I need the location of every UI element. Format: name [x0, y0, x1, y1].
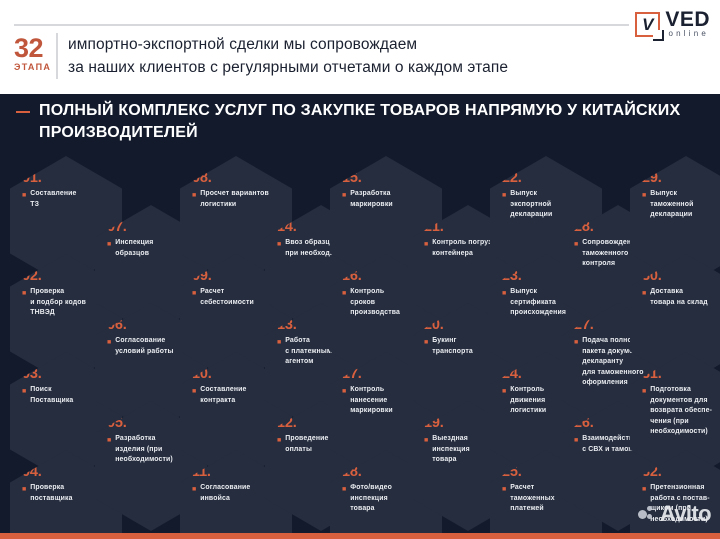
hexagon-step-label: Контроль погрузки контейнера: [432, 238, 500, 259]
hexagon-step-label: Проверка и подбор кодов ТНВЭД: [30, 287, 86, 319]
hexagon-step-label: Составление контракта: [200, 385, 246, 406]
hexagon-step-label: Выездная инспекция товара: [432, 434, 470, 466]
hexagon-step-label: Доставка товара на склад: [650, 287, 708, 308]
hexagon-step-label: Согласование инвойса: [200, 483, 250, 504]
hexagon-step-body: ■Составление ТЗ: [22, 189, 114, 210]
bullet-icon: ■: [574, 434, 578, 446]
hexagon-step-label: Контроль нанесение маркировки: [350, 385, 393, 417]
hexagon-step-number: 29.: [642, 170, 720, 186]
stage-count-word: ЭТАПА: [14, 61, 58, 73]
hexagon-step-number: 15.: [342, 170, 434, 186]
bullet-icon: ■: [22, 483, 26, 495]
avito-dots-icon: [638, 506, 657, 523]
logo-name: VED: [665, 10, 710, 29]
bullet-icon: ■: [424, 434, 428, 446]
hexagon-step-label: Выпуск таможенной декларации: [650, 189, 693, 221]
bullet-icon: ■: [424, 336, 428, 348]
hexagon-step-body: ■Доставка товара на склад: [642, 287, 720, 308]
bullet-icon: ■: [642, 483, 646, 495]
header-divider-rule: [14, 24, 629, 26]
bullet-icon: ■: [342, 189, 346, 201]
bullet-icon: ■: [642, 189, 646, 201]
stage-count-number: 32: [14, 36, 58, 61]
hexagon-step-label: Составление ТЗ: [30, 189, 76, 210]
header-line-2: за наших клиентов с регулярными отчетами…: [68, 56, 623, 79]
bullet-icon: ■: [642, 385, 646, 397]
logo-tagline: online: [665, 29, 710, 39]
hexagon-step-label: Инспекция образцов: [115, 238, 153, 259]
dark-panel: ПОЛНЫЙ КОМПЛЕКС УСЛУГ ПО ЗАКУПКЕ ТОВАРОВ…: [0, 94, 720, 539]
avito-watermark: Avito: [638, 503, 711, 525]
hexagon-step-body: ■Просчет вариантов логистики: [192, 189, 284, 210]
bullet-icon: ■: [424, 238, 428, 250]
bullet-icon: ■: [107, 434, 111, 446]
bullet-icon: ■: [192, 385, 196, 397]
hexagon-step-label: Поиск Поставщика: [30, 385, 73, 406]
hexagon-step-body: ■Разработка маркировки: [342, 189, 434, 210]
logo-corner-bracket-icon: [653, 30, 664, 41]
hexagon-step-label: Проведение оплаты: [285, 434, 328, 455]
bullet-icon: ■: [642, 287, 646, 299]
hexagon-step-label: Расчет себестоимости: [200, 287, 254, 308]
hexagon-step-label: Просчет вариантов логистики: [200, 189, 269, 210]
bullet-icon: ■: [502, 287, 506, 299]
bullet-icon: ■: [342, 483, 346, 495]
hexagon-step-label: Выпуск сертификата происхождения: [510, 287, 566, 319]
hexagon-step-label: Подготовка документов для возврата обесп…: [650, 385, 712, 438]
bullet-icon: ■: [107, 238, 111, 250]
badge-vertical-divider: [56, 33, 58, 79]
bullet-icon: ■: [277, 434, 281, 446]
bullet-icon: ■: [502, 385, 506, 397]
hexagon-grid: 01.■Составление ТЗ02.■Проверка и подбор …: [0, 156, 720, 539]
hexagon-step-label: Работа с платежным агентом: [285, 336, 332, 368]
hexagon-step-label: Разработка маркировки: [350, 189, 393, 210]
title-dash-icon: [16, 111, 30, 113]
bullet-icon: ■: [22, 189, 26, 201]
bullet-icon: ■: [22, 385, 26, 397]
bullet-icon: ■: [342, 287, 346, 299]
hexagon-step-body: ■Подготовка документов для возврата обес…: [642, 385, 720, 438]
ved-online-logo: V VED online: [635, 10, 710, 39]
header: 32 ЭТАПА импортно-экспортной сделки мы с…: [0, 0, 720, 94]
hexagon-step-number: 08.: [192, 170, 284, 186]
bullet-icon: ■: [342, 385, 346, 397]
hexagon-step-label: Букинг транспорта: [432, 336, 473, 357]
header-text-block: импортно-экспортной сделки мы сопровожда…: [68, 33, 623, 79]
logo-mark-icon: V: [635, 12, 660, 37]
bullet-icon: ■: [22, 287, 26, 299]
hexagon-step-number: 01.: [22, 170, 114, 186]
hexagon-step-body: ■Выпуск таможенной декларации: [642, 189, 720, 221]
hexagon-step-label: Выпуск экспортной декларации: [510, 189, 552, 221]
infographic-poster: 32 ЭТАПА импортно-экспортной сделки мы с…: [0, 0, 720, 539]
hexagon-step-number: 22.: [502, 170, 594, 186]
bottom-accent-stripe: [0, 533, 720, 539]
bullet-icon: ■: [502, 189, 506, 201]
bullet-icon: ■: [574, 238, 578, 250]
bullet-icon: ■: [192, 483, 196, 495]
header-line-1: импортно-экспортной сделки мы сопровожда…: [68, 33, 623, 56]
bullet-icon: ■: [192, 287, 196, 299]
hexagon-step-label: Согласование условий работы: [115, 336, 173, 357]
bullet-icon: ■: [107, 336, 111, 348]
hexagon-step-label: Контроль движения логистики: [510, 385, 546, 417]
hexagon-step-label: Разработка изделия (при необходимости): [115, 434, 173, 466]
section-title: ПОЛНЫЙ КОМПЛЕКС УСЛУГ ПО ЗАКУПКЕ ТОВАРОВ…: [39, 100, 706, 144]
hexagon-step-label: Контроль сроков производства: [350, 287, 400, 319]
bullet-icon: ■: [277, 238, 281, 250]
hexagon-step-label: Расчет таможенных платежей: [510, 483, 555, 515]
bullet-icon: ■: [574, 336, 578, 348]
bullet-icon: ■: [502, 483, 506, 495]
hexagon-step-body: ■Выпуск экспортной декларации: [502, 189, 594, 221]
logo-wordmark: VED online: [665, 10, 710, 39]
bullet-icon: ■: [192, 189, 196, 201]
section-title-block: ПОЛНЫЙ КОМПЛЕКС УСЛУГ ПО ЗАКУПКЕ ТОВАРОВ…: [16, 100, 706, 144]
avito-wordmark: Avito: [660, 503, 711, 525]
hexagon-step-label: Проверка поставщика: [30, 483, 72, 504]
bullet-icon: ■: [277, 336, 281, 348]
hexagon-step-label: Фото/видео инспекция товара: [350, 483, 392, 515]
stage-count-badge: 32 ЭТАПА: [14, 36, 58, 73]
